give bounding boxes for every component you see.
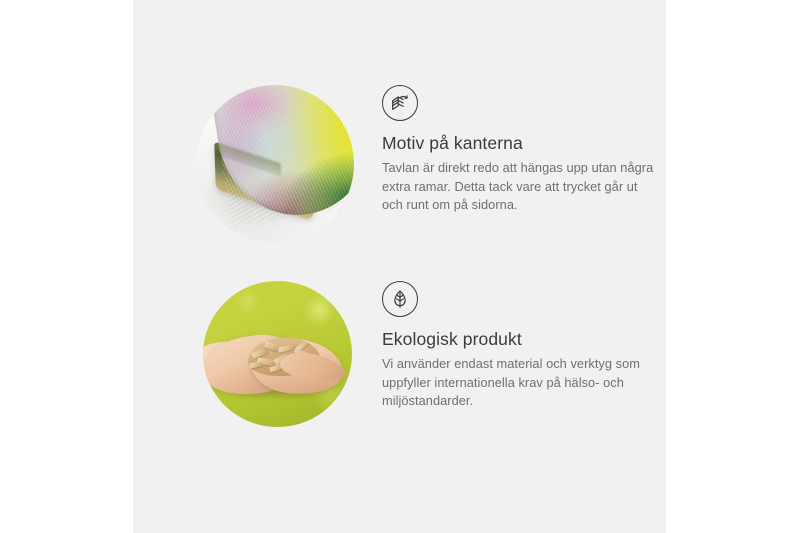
product-feature-page: Motiv på kanterna Tavlan är direkt redo … <box>0 0 800 533</box>
wood-chips-in-hands-photo <box>203 281 352 427</box>
feature-text: Ekologisk produkt Vi använder endast mat… <box>382 281 657 411</box>
feature-title: Motiv på kanterna <box>382 133 657 154</box>
canvas-wrapped-edges-icon <box>382 85 418 121</box>
canvas-corner-photo-image <box>196 85 354 243</box>
feature-text: Motiv på kanterna Tavlan är direkt redo … <box>382 85 657 215</box>
meadow-bokeh-background <box>203 281 352 427</box>
feature-description: Vi använder endast material och verktyg … <box>382 355 657 411</box>
leaf-icon <box>382 281 418 317</box>
canvas-scene-background <box>196 85 354 243</box>
content-panel: Motiv på kanterna Tavlan är direkt redo … <box>133 0 666 533</box>
wood-chips-photo-image <box>203 281 352 427</box>
feature-list: Motiv på kanterna Tavlan är direkt redo … <box>133 0 666 533</box>
feature-title: Ekologisk produkt <box>382 329 657 350</box>
canvas-corner-photo <box>196 85 354 243</box>
feature-description: Tavlan är direkt redo att hängas upp uta… <box>382 159 657 215</box>
